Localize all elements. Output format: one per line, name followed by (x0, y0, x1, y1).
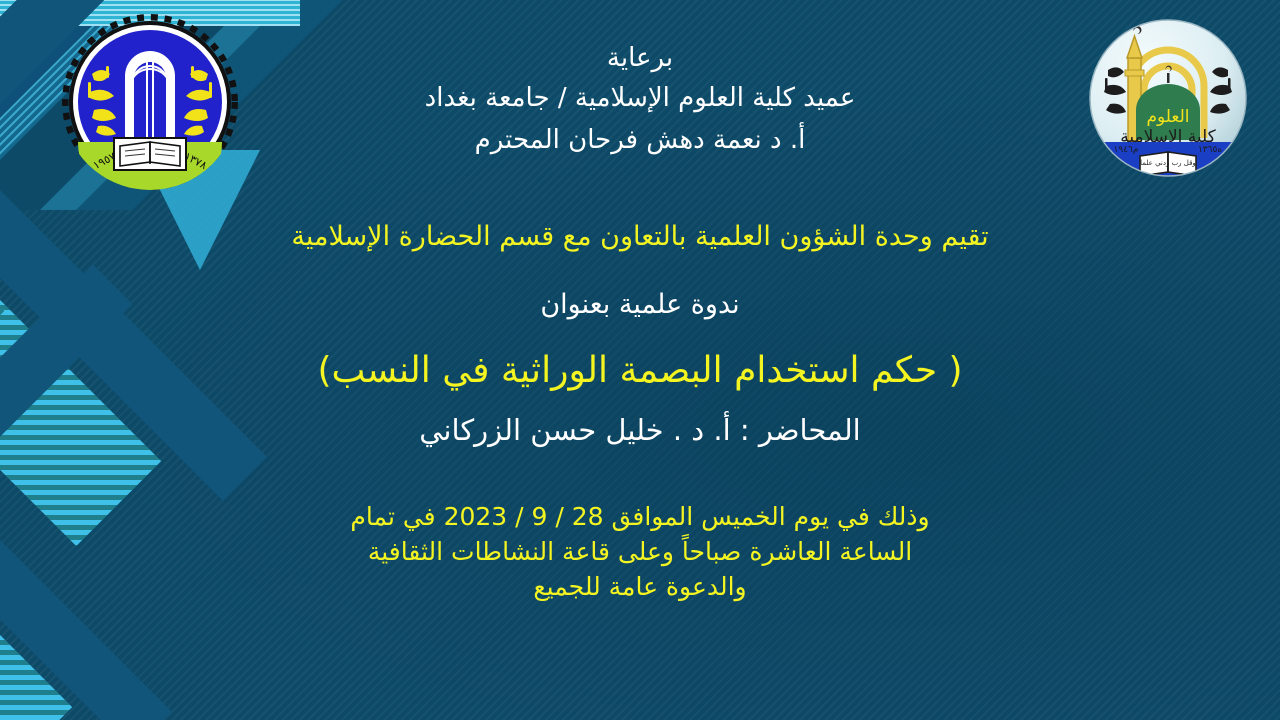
patronage-label: برعاية (0, 42, 1280, 75)
event-type-line: ندوة علمية بعنوان (0, 288, 1280, 322)
date-line: وذلك في يوم الخميس الموافق 28 / 9 / 2023… (0, 500, 1280, 534)
organizer-line: تقيم وحدة الشؤون العلمية بالتعاون مع قسم… (0, 220, 1280, 254)
poster-text-content: برعاية عميد كلية العلوم الإسلامية / جامع… (0, 0, 1280, 720)
time-place-line: الساعة العاشرة صباحاً وعلى قاعة النشاطات… (0, 535, 1280, 569)
dean-name: أ. د نعمة دهش فرحان المحترم (0, 124, 1280, 157)
seminar-title: ( حكم استخدام البصمة الوراثية في النسب) (0, 348, 1280, 393)
lecturer-line: المحاضر : أ. د . خليل حسن الزركاني (0, 412, 1280, 448)
seminar-poster: ١٩٥٧ ١٣٧٨ (0, 0, 1280, 720)
dean-line: عميد كلية العلوم الإسلامية / جامعة بغداد (0, 82, 1280, 115)
invitation-line: والدعوة عامة للجميع (0, 570, 1280, 604)
